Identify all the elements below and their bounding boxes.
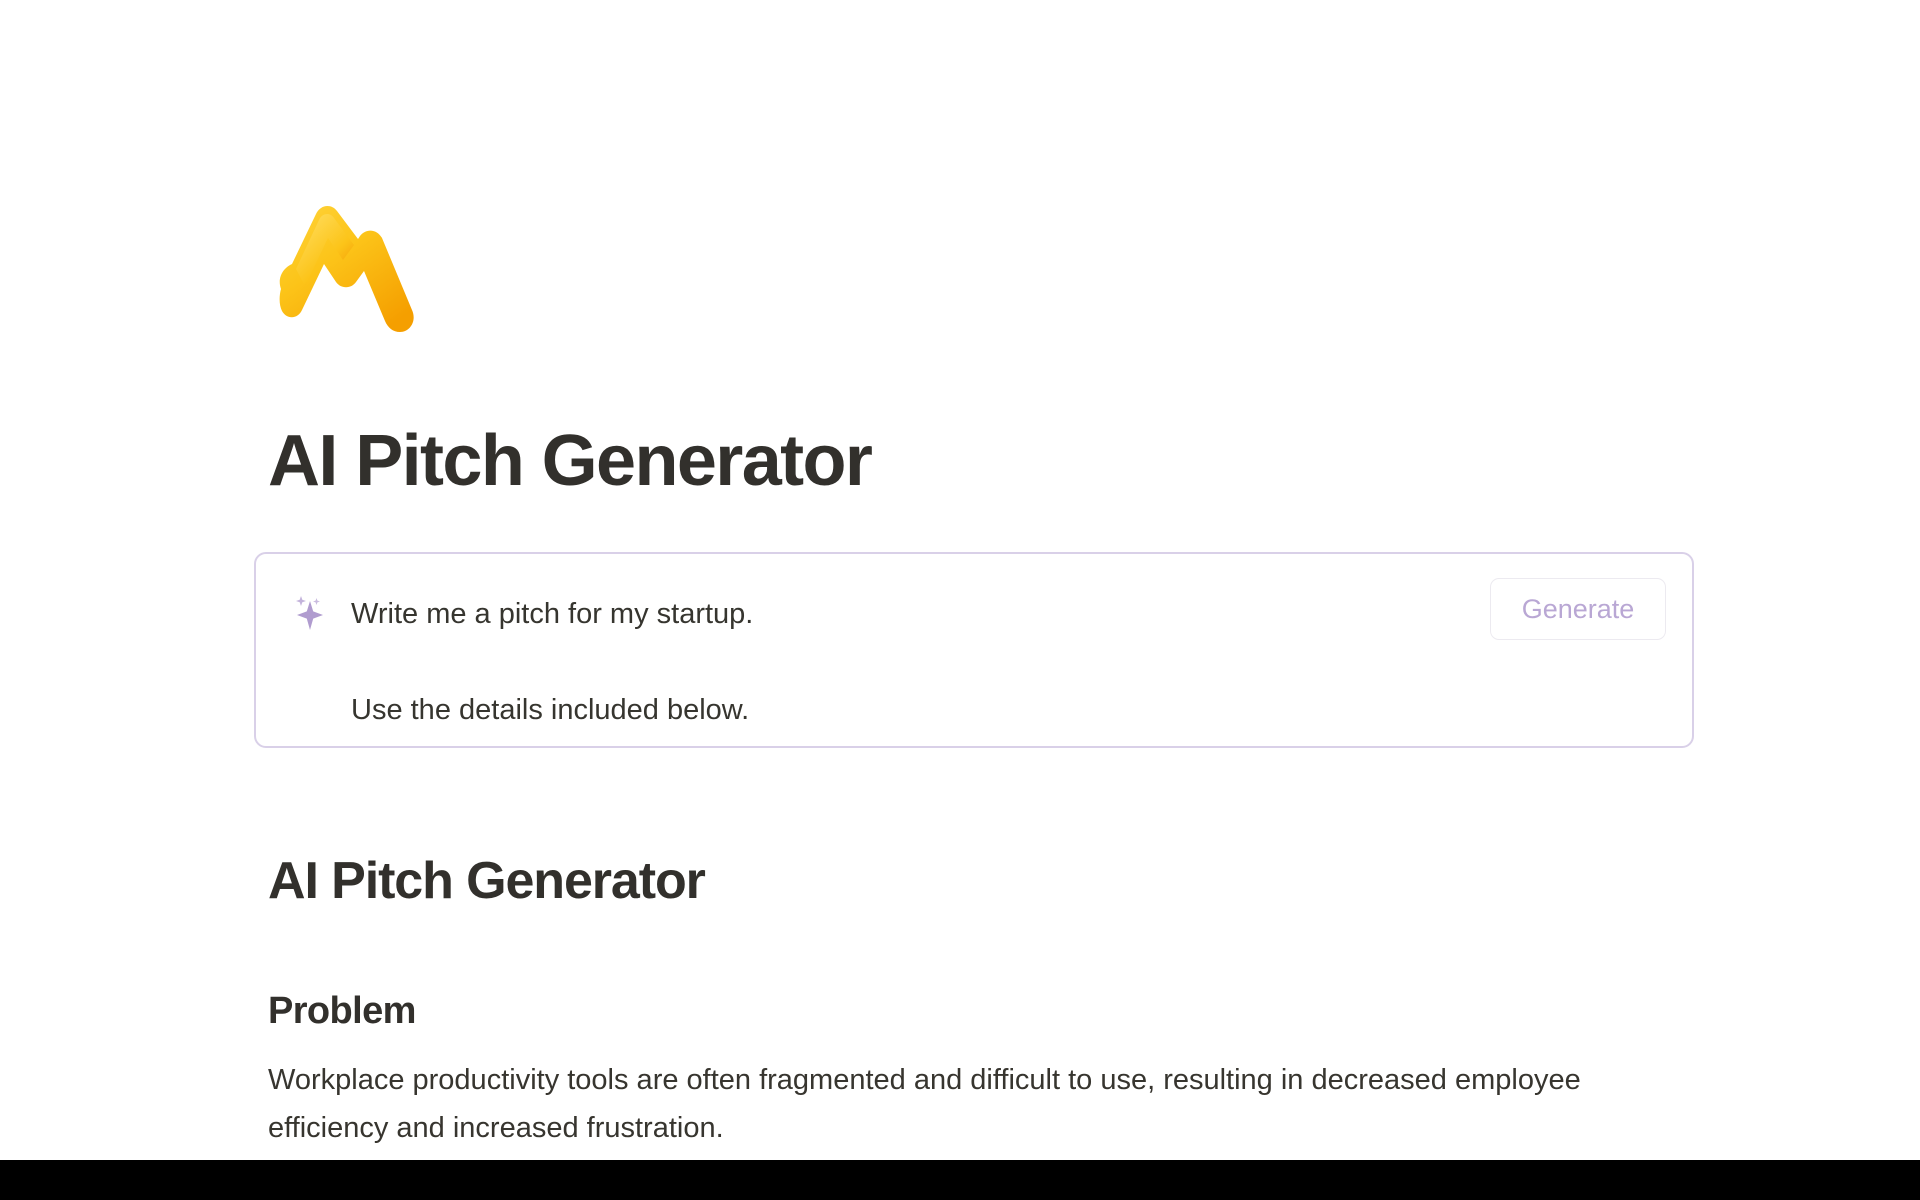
mountain-logo-icon	[272, 192, 422, 337]
screenshot-viewport: AI Pitch Generator Write me a pitch for …	[0, 0, 1920, 1200]
ai-prompt-line-1[interactable]: Write me a pitch for my startup.	[351, 592, 753, 636]
section-heading-problem: Problem	[268, 988, 416, 1034]
ai-prompt-row: Write me a pitch for my startup. Use the…	[256, 554, 1692, 746]
notion-page: AI Pitch Generator Write me a pitch for …	[0, 0, 1920, 1160]
ai-prompt-line-2[interactable]: Use the details included below.	[351, 688, 749, 732]
section-body-problem: Workplace productivity tools are often f…	[268, 1056, 1638, 1152]
page-title: AI Pitch Generator	[268, 418, 871, 504]
generate-button[interactable]: Generate	[1490, 578, 1666, 640]
document-title: AI Pitch Generator	[268, 850, 705, 912]
ai-sparkle-icon	[288, 592, 332, 636]
ai-prompt-box[interactable]: Write me a pitch for my startup. Use the…	[254, 552, 1694, 748]
letterbox-bottom-bar	[0, 1160, 1920, 1200]
